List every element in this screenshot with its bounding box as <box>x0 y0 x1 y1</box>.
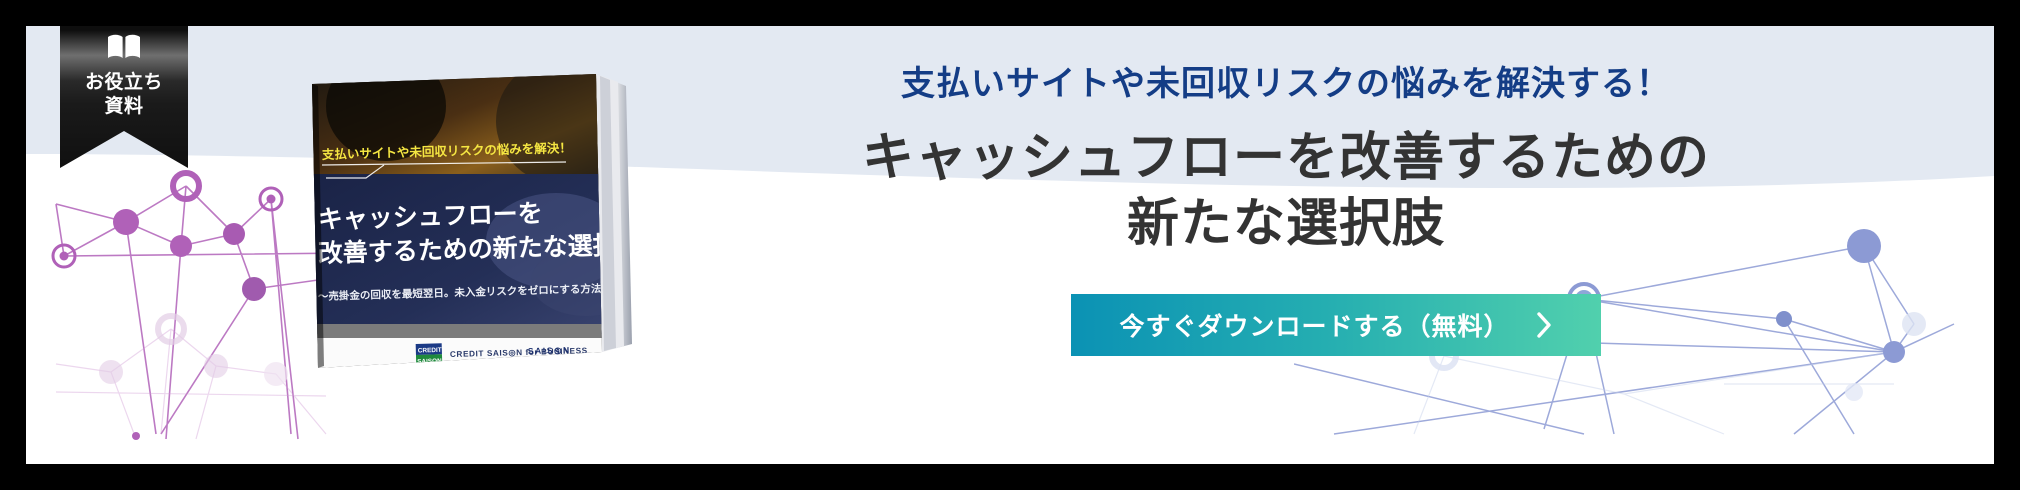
promo-banner: お役立ち 資料 <box>0 0 2020 490</box>
download-cta-label: 今すぐダウンロードする（無料） <box>1119 307 1509 343</box>
headline-line-1: キャッシュフローを改善するための <box>862 129 1710 187</box>
banner-card: お役立ち 資料 <box>26 26 1994 464</box>
book-logo-mark-2: SAISON <box>417 358 442 366</box>
content-column: 支払いサイトや未回収リスクの悩みを解決する！ キャッシュフローを改善するための … <box>666 26 1994 464</box>
ribbon-badge: お役立ち 資料 <box>60 26 188 168</box>
ribbon-line-2: 資料 <box>85 95 163 119</box>
eyebrow-headline: 支払いサイトや未回収リスクの悩みを解決する！ <box>666 56 1906 105</box>
ribbon-line-1: お役立ち <box>85 71 163 95</box>
headline-line-2: 新たな選択肢 <box>666 192 1906 258</box>
chevron-right-icon <box>1536 312 1553 338</box>
open-book-icon <box>107 34 141 65</box>
book-product-line-2: INVOICE <box>522 353 588 372</box>
book-logo-mark-1: CREDIT <box>418 347 442 355</box>
main-headline: キャッシュフローを改善するための 新たな選択肢 <box>666 126 1906 257</box>
ebook-cover-image: 支払いサイトや未回収リスクの悩みを解決！ キャッシュフローを 改善するための新た… <box>266 66 656 376</box>
download-cta-button[interactable]: 今すぐダウンロードする（無料） <box>1071 294 1601 356</box>
